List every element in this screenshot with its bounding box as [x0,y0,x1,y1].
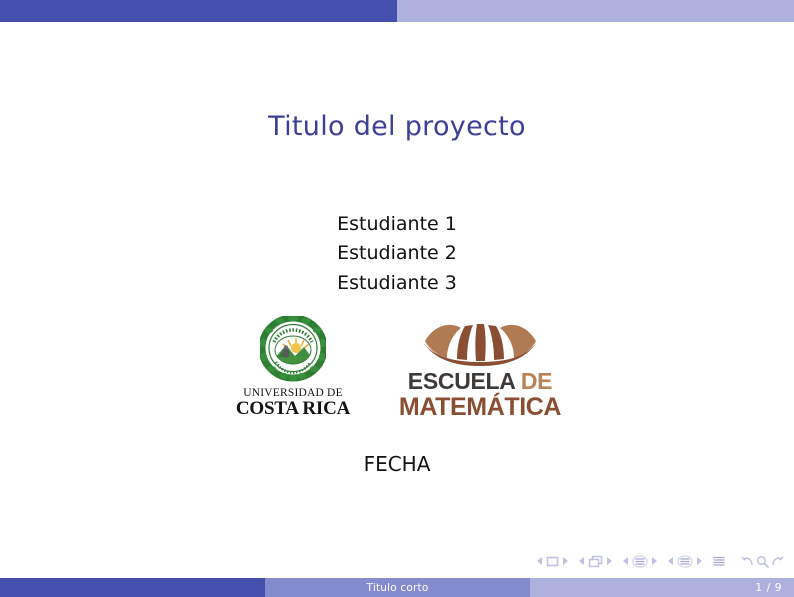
slide-canvas: Titulo del proyecto Estudiante 1 Estudia… [0,0,794,597]
ucr-wordmark: UNIVERSIDAD DE COSTA RICA [236,387,350,419]
de-word: DE [521,368,552,394]
presentation-navigation[interactable] [712,555,726,568]
footer-title-segment: Titulo corto [265,578,530,597]
author-name: Estudiante 1 [0,210,794,239]
universidad-de-costa-rica-logo: UNIVERSIDAD DE COSTA RICA [229,316,357,419]
subsection-navigation[interactable] [622,555,658,568]
header-bar-right-segment [397,0,794,22]
square-icon [546,556,559,567]
back-arrow-icon [741,555,755,568]
prev-frame-icon [578,556,585,566]
history-navigation[interactable] [741,555,784,568]
date-text: FECHA [364,452,431,476]
logos-row: UNIVERSIDAD DE COSTA RICA [0,316,794,420]
frame-navigation[interactable] [578,555,613,568]
beamer-navigation-symbols[interactable] [536,547,784,575]
author-name: Estudiante 2 [0,239,794,268]
footer-short-title: Titulo corto [367,582,429,594]
next-slide-icon [562,556,569,566]
next-section-icon [696,556,703,566]
authors-block: Estudiante 1 Estudiante 2 Estudiante 3 [0,210,794,298]
footer-page-segment: 1 / 9 [530,578,794,597]
forward-arrow-icon [770,555,784,568]
escuela-de-matematica-logo: ESCUELA DE MATEMÁTICA [395,316,565,420]
section-navigation[interactable] [667,555,703,568]
ucr-wordmark-line2: COSTA RICA [236,399,350,419]
next-subsection-icon [651,556,658,566]
next-frame-icon [606,556,613,566]
matematica-word: MATEMÁTICA [399,394,561,420]
magnifier-icon [756,555,769,568]
title-block: Titulo del proyecto [0,112,794,142]
subsection-icon [632,555,648,568]
prev-slide-icon [536,556,543,566]
frames-icon [588,555,603,568]
header-bar-left-segment [0,0,397,22]
slide-navigation[interactable] [536,556,569,567]
presentation-icon [712,555,726,568]
page-title: Titulo del proyecto [0,112,794,142]
date-block: FECHA [0,452,794,476]
footer-left-segment [0,578,265,597]
header-bar [0,0,794,22]
ucr-seal-icon [260,316,326,384]
footer-bar: Titulo corto 1 / 9 [0,578,794,597]
prev-section-icon [667,556,674,566]
prev-subsection-icon [622,556,629,566]
escuela-word: ESCUELA [408,368,515,394]
stylized-eye-icon [421,316,539,366]
page-indicator: 1 / 9 [755,581,782,594]
escuela-wordmark: ESCUELA DE MATEMÁTICA [399,370,561,420]
section-icon [677,555,693,568]
author-name: Estudiante 3 [0,269,794,298]
